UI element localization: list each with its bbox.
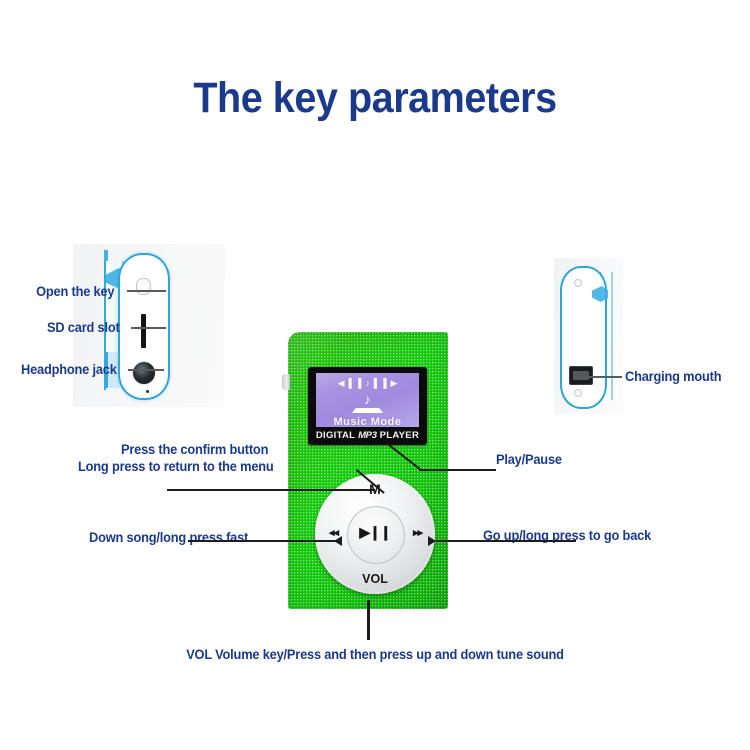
sd-card-slot-opening-icon: [141, 314, 146, 348]
lcd-mode-text: Music Mode: [316, 416, 419, 427]
leader-vol-key: [367, 600, 370, 640]
prev-track-icon: ◀: [338, 379, 345, 388]
leader-headphone-jack: [128, 369, 164, 371]
leader-down-song: [188, 540, 339, 542]
next-track-icon: ▶: [391, 379, 398, 388]
page-root: The key parameters Open the key SD card …: [0, 0, 750, 750]
screw-icon-bottom: [574, 389, 582, 397]
music-note-pedestal: [352, 408, 383, 413]
music-note-icon-small: ♪: [365, 379, 370, 388]
left-device-pinhole: [146, 390, 149, 393]
leader-down-song-arrowhead: [334, 536, 342, 546]
lcd-bezel: ◀ ▌▐ ♪ ▌▐ ▶ ♪ Music Mode DIGITAL MP3 PLA…: [308, 367, 427, 445]
leader-confirm-button: [167, 489, 375, 491]
label-headphone-jack: Headphone jack: [21, 362, 117, 377]
play-pause-button[interactable]: ▶❙❙: [315, 524, 435, 541]
label-sd-card-slot: SD card slot: [47, 320, 120, 335]
leader-charging-mouth: [585, 376, 622, 378]
label-confirm-button-line2: Long press to return to the menu: [78, 459, 274, 474]
brand-caption: DIGITAL MP3 PLAYER: [308, 430, 427, 441]
control-wheel[interactable]: M VOL ◂◂ ▸▸ ▶❙❙: [315, 474, 435, 594]
leader-sd-card-slot: [131, 327, 166, 329]
eq-icon-left: ▌▐: [348, 379, 361, 388]
brand-caption-mp3: MP3: [358, 430, 377, 441]
label-down-song: Down song/long press fast: [89, 530, 248, 545]
brand-caption-prefix: DIGITAL: [316, 430, 358, 441]
headphone-jack-port-icon: [132, 361, 156, 385]
lcd-status-bar: ◀ ▌▐ ♪ ▌▐ ▶: [316, 377, 419, 390]
label-open-the-key: Open the key: [36, 284, 114, 299]
side-button[interactable]: [282, 374, 290, 390]
lcd-screen: ◀ ▌▐ ♪ ▌▐ ▶ ♪ Music Mode: [316, 373, 419, 427]
label-confirm-button-line1: Press the confirm button: [121, 442, 268, 457]
brand-caption-suffix: PLAYER: [377, 430, 419, 441]
eq-icon-right: ▌▐: [374, 379, 387, 388]
leader-open-the-key: [127, 290, 166, 292]
music-note-icon: ♪: [316, 393, 419, 406]
volume-button[interactable]: VOL: [315, 572, 435, 586]
leader-go-up: [436, 540, 576, 542]
page-title: The key parameters: [30, 74, 720, 123]
label-vol-key: VOL Volume key/Press and then press up a…: [19, 647, 732, 662]
label-play-pause: Play/Pause: [496, 452, 562, 467]
label-charging-mouth: Charging mouth: [625, 369, 721, 384]
screw-icon-top: [574, 279, 582, 287]
leader-play-pause-horizontal: [419, 469, 496, 471]
leader-go-up-arrowhead: [428, 536, 436, 546]
key-notch-icon: [136, 278, 151, 295]
